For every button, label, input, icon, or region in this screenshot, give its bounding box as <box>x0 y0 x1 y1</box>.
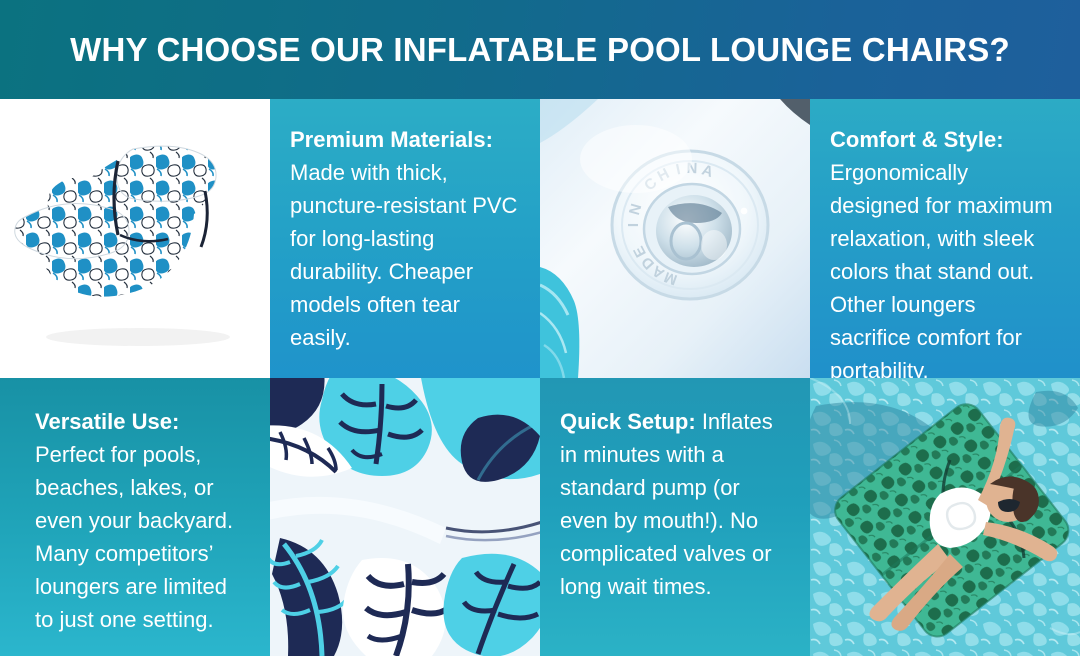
versatile-lead: Versatile Use: <box>35 409 179 434</box>
premium-panel: Premium Materials: Made with thick, punc… <box>270 99 540 364</box>
quick-panel: Quick Setup: Inflates in minutes with a … <box>540 378 810 613</box>
pool-lounger-photo-cell <box>810 378 1080 656</box>
comfort-text: Comfort & Style: Ergonomically designed … <box>830 123 1058 378</box>
quick-body: Inflates in minutes with a standard pump… <box>560 409 773 599</box>
inflation-valve-image: C H I N A N I M A D E <box>540 99 810 378</box>
tropical-fabric-image <box>270 378 540 656</box>
infographic-page: WHY CHOOSE OUR INFLATABLE POOL LOUNGE CH… <box>0 0 1080 656</box>
comfort-lead: Comfort & Style: <box>830 127 1004 152</box>
svg-text:I: I <box>625 223 642 227</box>
fabric-photo-cell <box>270 378 540 656</box>
product-photo-cell <box>0 99 270 378</box>
pool-chair-image <box>0 99 270 378</box>
comfort-style-cell: Comfort & Style: Ergonomically designed … <box>810 99 1080 378</box>
premium-lead: Premium Materials: <box>290 127 493 152</box>
premium-body: Made with thick, puncture-resistant PVC … <box>290 160 517 350</box>
versatile-body: Perfect for pools, beaches, lakes, or ev… <box>35 442 233 632</box>
woman-on-lounger-image <box>810 378 1080 656</box>
quick-setup-cell: Quick Setup: Inflates in minutes with a … <box>540 378 810 656</box>
quick-text: Quick Setup: Inflates in minutes with a … <box>560 405 788 603</box>
premium-materials-cell: Premium Materials: Made with thick, punc… <box>270 99 540 378</box>
premium-text: Premium Materials: Made with thick, punc… <box>290 123 518 354</box>
versatile-text: Versatile Use: Perfect for pools, beache… <box>35 405 248 636</box>
versatile-use-cell: Versatile Use: Perfect for pools, beache… <box>0 378 270 656</box>
valve-photo-cell: C H I N A N I M A D E <box>540 99 810 378</box>
content-grid: Premium Materials: Made with thick, punc… <box>0 99 1080 656</box>
page-title: WHY CHOOSE OUR INFLATABLE POOL LOUNGE CH… <box>70 31 1010 69</box>
comfort-panel: Comfort & Style: Ergonomically designed … <box>810 99 1080 378</box>
quick-lead: Quick Setup: <box>560 409 696 434</box>
versatile-panel: Versatile Use: Perfect for pools, beache… <box>0 378 270 646</box>
header-banner: WHY CHOOSE OUR INFLATABLE POOL LOUNGE CH… <box>0 0 1080 99</box>
comfort-body: Ergonomically designed for maximum relax… <box>830 160 1053 378</box>
